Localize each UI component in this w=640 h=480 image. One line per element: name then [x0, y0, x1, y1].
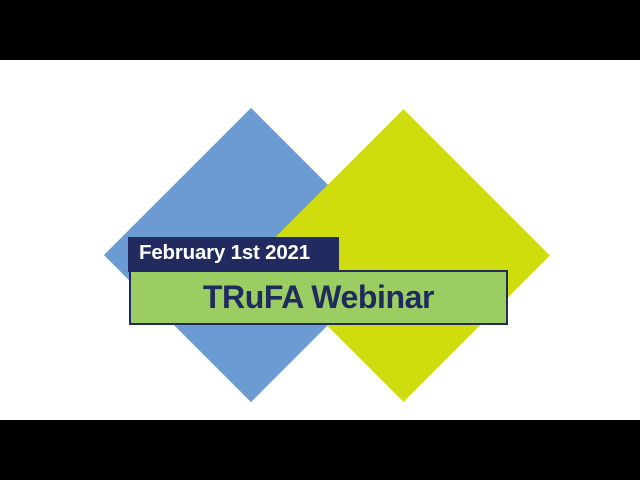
- title-box: TRuFA Webinar: [129, 270, 508, 325]
- title-text: TRuFA Webinar: [203, 281, 434, 315]
- letterbox-bar-top: [0, 0, 640, 60]
- letterbox-bar-bottom: [0, 420, 640, 480]
- date-banner: February 1st 2021: [128, 237, 339, 272]
- video-frame[interactable]: February 1st 2021 TRuFA Webinar: [0, 60, 640, 420]
- video-player-stage: February 1st 2021 TRuFA Webinar: [0, 0, 640, 480]
- date-text: February 1st 2021: [139, 243, 310, 264]
